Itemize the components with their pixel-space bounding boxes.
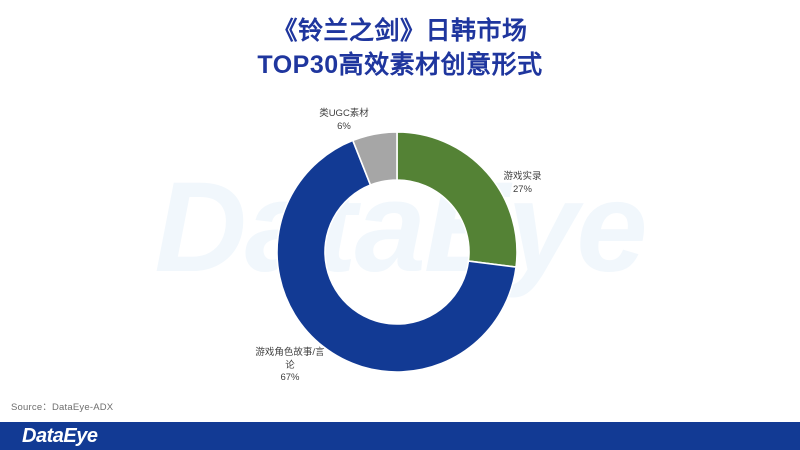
source-note: Source：DataEye-ADX — [11, 399, 113, 413]
page-title: 《铃兰之剑》日韩市场 TOP30高效素材创意形式 — [0, 14, 800, 82]
donut-chart-svg — [0, 95, 800, 395]
brand-bar: DataEye — [0, 422, 800, 450]
donut-chart: 类UGC素材 6% 游戏实录 27% 游戏角色故事/言 论 67% — [0, 95, 800, 395]
slice-label-ugc: 类UGC素材 6% — [281, 108, 407, 133]
slice-label-story: 游戏角色故事/言 论 67% — [216, 347, 364, 385]
donut-slices — [277, 132, 517, 372]
title-line-2: TOP30高效素材创意形式 — [0, 48, 800, 82]
donut-slice-0 — [397, 132, 517, 267]
dataeye-logo: DataEye — [22, 425, 97, 448]
title-line-1: 《铃兰之剑》日韩市场 — [0, 14, 800, 48]
slice-label-gameplay: 游戏实录 27% — [470, 171, 575, 196]
